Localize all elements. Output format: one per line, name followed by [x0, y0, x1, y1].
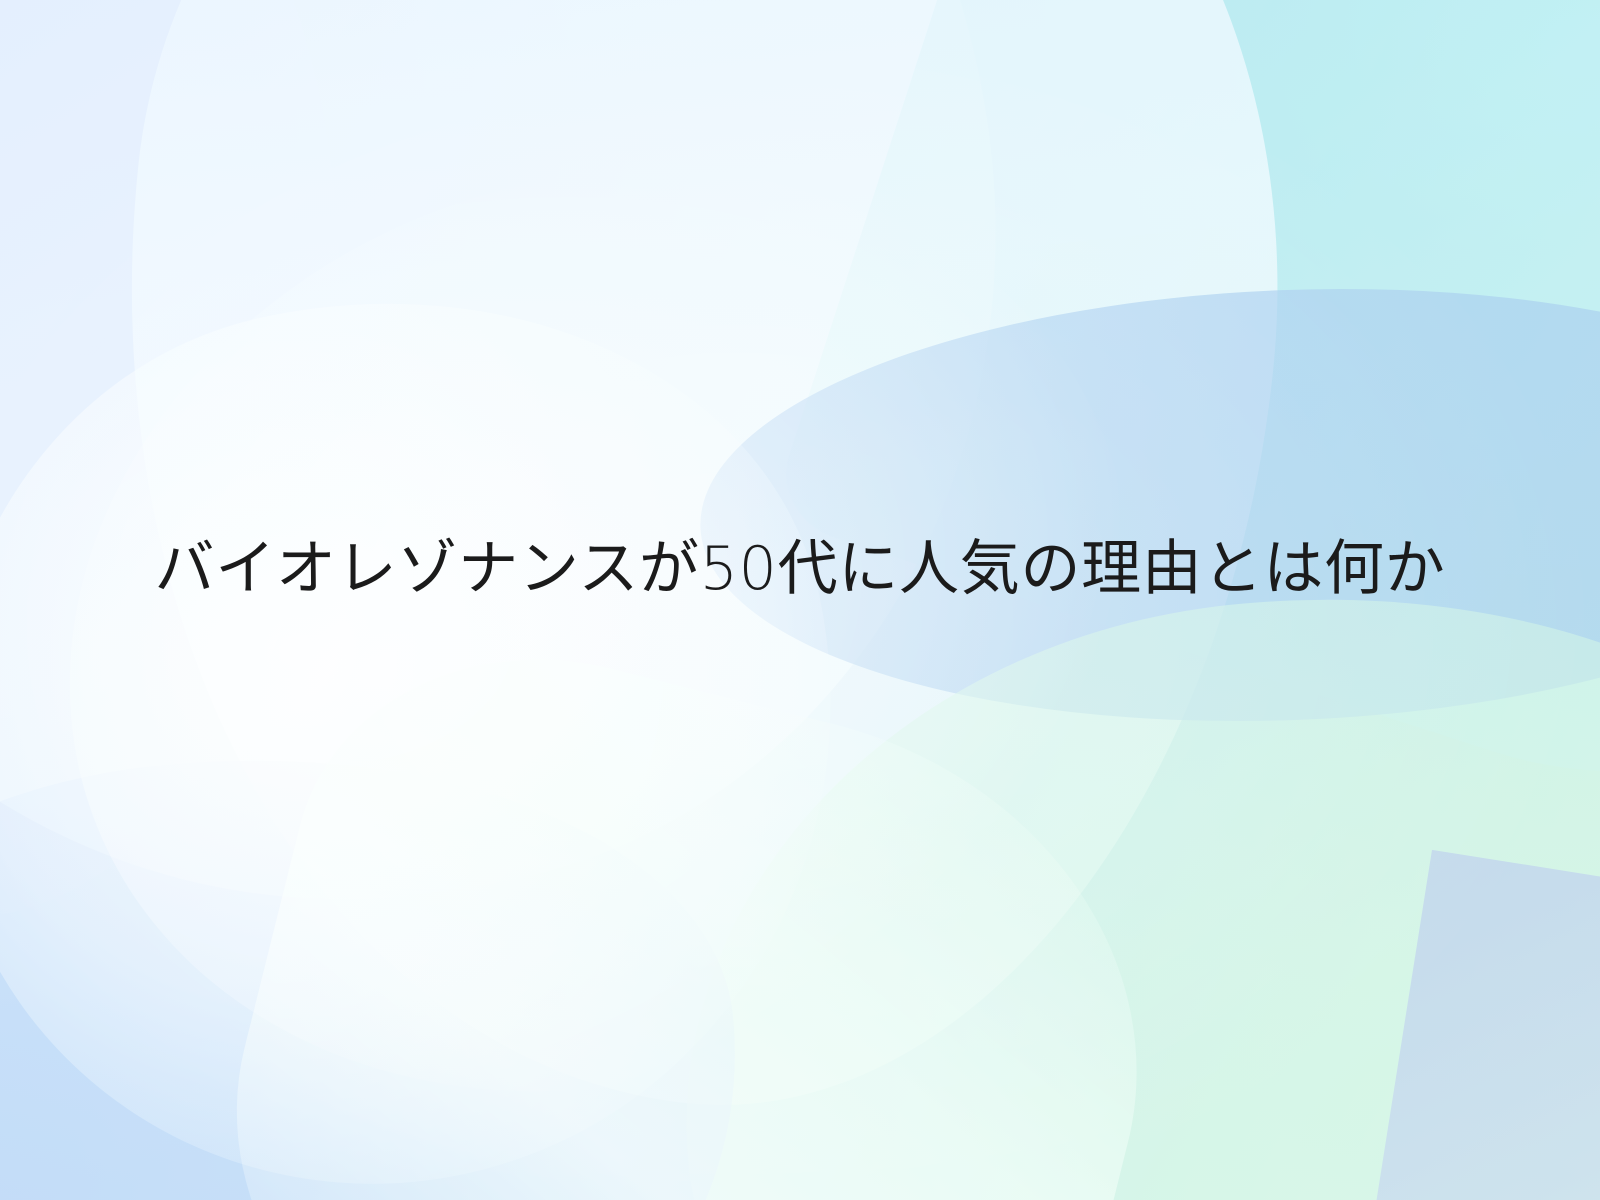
background-shape-bottom-left-band: [0, 709, 774, 1200]
background-shape-right-lens-ellipse: [692, 268, 1600, 743]
background-shape-left-glow-diamond: [0, 216, 922, 1200]
background-shape-bottom-right-mint-lobe: [636, 538, 1600, 1200]
background-shape-top-left-lobe: [0, 0, 1093, 995]
title-slide: バイオレゾナンスが50代に人気の理由とは何か: [0, 0, 1600, 1200]
background-shape-top-right-cyan-panel: [769, 0, 1600, 872]
background-shape-left-lavender-haze: [0, 0, 380, 942]
background-shape-bottom-center-streak: [171, 605, 1209, 1200]
title-container: バイオレゾナンスが50代に人気の理由とは何か: [0, 514, 1600, 624]
slide-title: バイオレゾナンスが50代に人気の理由とは何か: [155, 532, 1446, 607]
background-shape-bottom-right-wedge: [1363, 850, 1600, 1200]
